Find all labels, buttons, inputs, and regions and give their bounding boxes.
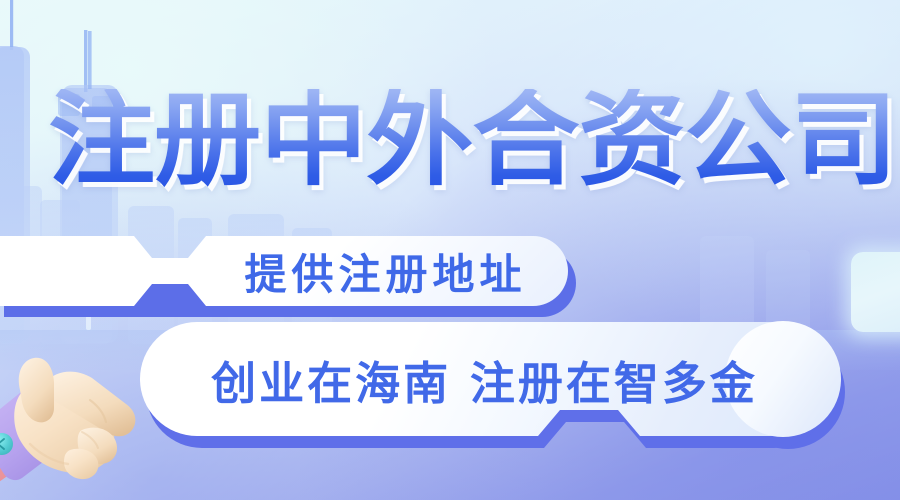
pointing-hand-icon	[0, 326, 186, 500]
page-title-text: 注册中外合资公司	[48, 89, 897, 192]
badge-provide-address-label: 提供注册地址	[198, 236, 568, 306]
soft-card-icon	[851, 252, 900, 332]
hand-svg	[0, 326, 186, 500]
badge-slogan-label: 创业在海南 注册在智多金	[140, 322, 826, 436]
promotional-banner: 注册中外合资公司 提供注册地址 创业在海南 注册在智多金	[0, 0, 900, 500]
page-title: 注册中外合资公司	[48, 78, 864, 202]
